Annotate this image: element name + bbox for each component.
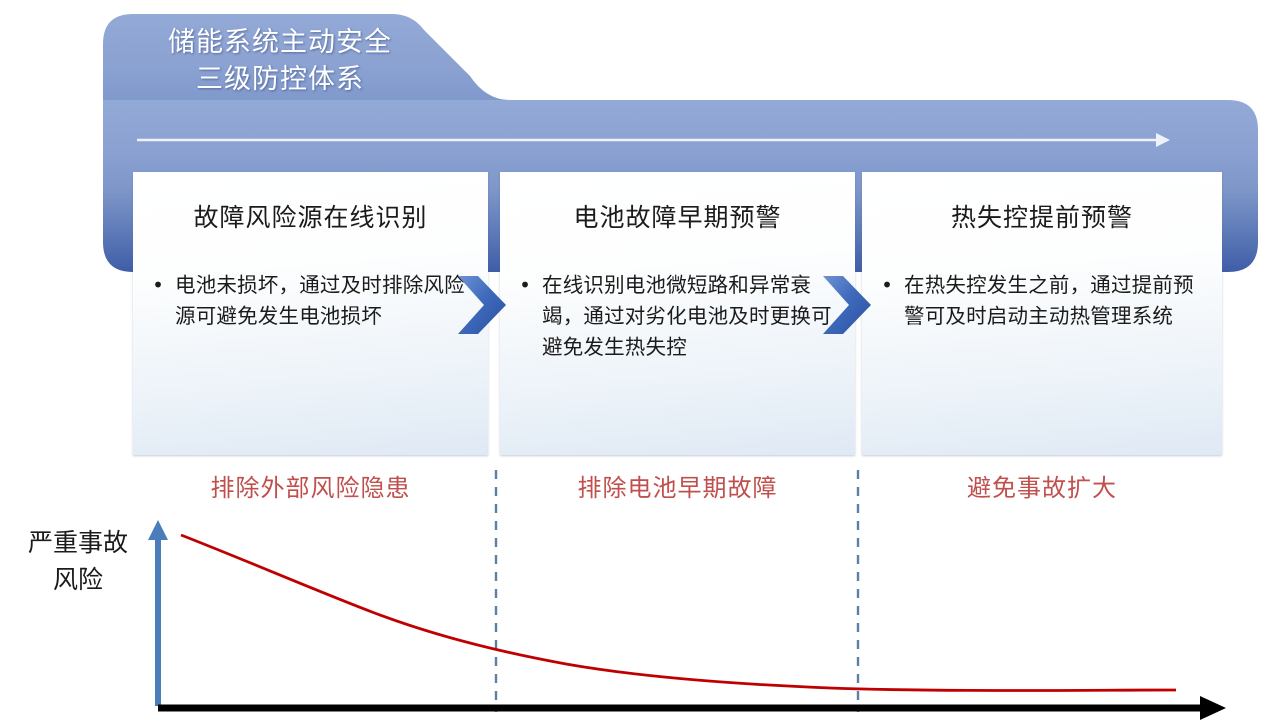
y-axis-label: 严重事故 风险: [4, 524, 152, 598]
risk-decline-chart: 严重事故 风险: [0, 0, 1269, 721]
x-axis-arrow-icon: [158, 696, 1226, 720]
curve-hidden-guide: [180, 535, 880, 714]
curve-hidden-guide-2: [180, 536, 900, 707]
chart-svg: [0, 0, 1269, 721]
slide-canvas: 储能系统主动安全 三级防控体系 故障风险源在线识别 • 电池未损坏，通过及时排除…: [0, 0, 1269, 721]
severe-accident-risk-curve: [181, 535, 1176, 691]
